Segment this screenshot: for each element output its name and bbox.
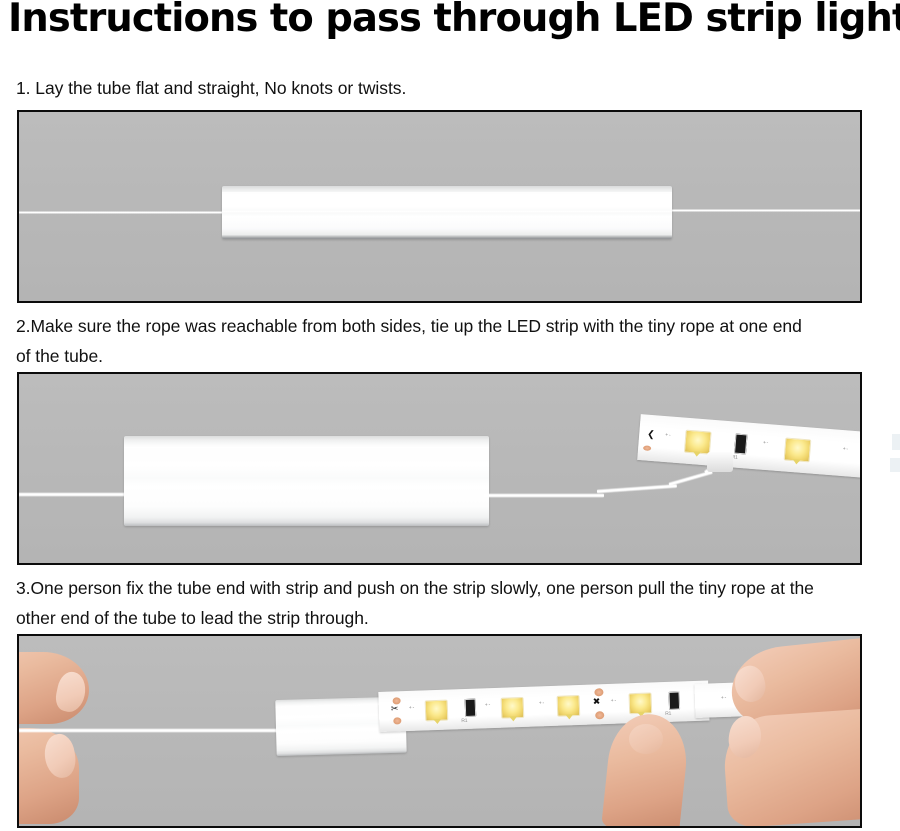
left-hand-pinching-rope	[17, 642, 129, 824]
led-chip	[557, 695, 581, 717]
white-diffuser-tube	[124, 436, 489, 526]
strip-marking: + -	[611, 699, 616, 704]
tiny-rope-segment	[484, 493, 604, 498]
rope-strip-knot	[707, 452, 733, 472]
scissors-cut-icon: ✖	[593, 698, 601, 707]
scissors-cut-icon: ✂	[391, 705, 399, 714]
step-2-image: ❮ + - R1 + - + -	[17, 372, 862, 565]
cut-arrow-icon: ❮	[647, 431, 655, 441]
tiny-rope	[17, 492, 132, 497]
tiny-rope	[659, 209, 862, 212]
step-3-image: ✂ + - R1 + - + - ✖ + - R1 + - ✖	[17, 634, 862, 828]
step-1-caption-line-1: 1. Lay the tube flat and straight, No kn…	[16, 73, 406, 103]
scan-artifact	[890, 458, 900, 472]
right-hand-holding-strip	[709, 634, 862, 828]
strip-marking: + -	[665, 433, 670, 438]
step-3-caption-line-2: other end of the tube to lead the strip …	[16, 603, 814, 633]
step-2-caption-line-1: 2.Make sure the rope was reachable from …	[16, 311, 802, 341]
strip-marking: + -	[763, 441, 768, 446]
strip-marking: + -	[842, 447, 847, 452]
led-chip	[784, 437, 812, 462]
led-chip	[425, 700, 449, 722]
tiny-rope	[17, 728, 287, 733]
resistor	[465, 699, 477, 717]
scan-artifact	[892, 434, 900, 450]
strip-marking: + -	[409, 706, 414, 711]
step-3-caption: 3.One person fix the tube end with strip…	[16, 573, 814, 633]
led-chip	[684, 430, 712, 455]
strip-marking: + -	[485, 703, 490, 708]
strip-marking: R1	[461, 719, 467, 724]
pointing-finger-nail	[629, 724, 663, 754]
resistor	[668, 692, 680, 710]
step-3-caption-line-1: 3.One person fix the tube end with strip…	[16, 573, 814, 603]
step-2-caption: 2.Make sure the rope was reachable from …	[16, 311, 802, 371]
step-1-image	[17, 110, 862, 303]
strip-marking: + -	[539, 701, 544, 706]
page-title: Instructions to pass through LED strip l…	[8, 0, 879, 42]
led-chip	[501, 697, 525, 719]
led-chip	[628, 692, 652, 714]
pointing-finger	[607, 714, 703, 828]
tiny-rope-over-tube	[222, 210, 672, 213]
step-1-caption: 1. Lay the tube flat and straight, No kn…	[16, 73, 406, 103]
step-2-caption-line-2: of the tube.	[16, 341, 802, 371]
resistor	[734, 434, 748, 455]
